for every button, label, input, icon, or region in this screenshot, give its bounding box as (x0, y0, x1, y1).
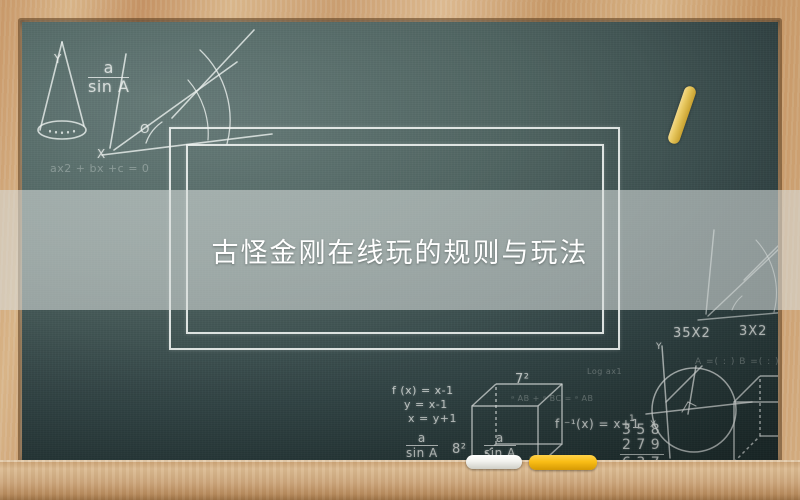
yellow-chalk-stick (529, 455, 597, 470)
chalkboard-scene: Y X O a sin A ax2 + bx +c = 0 f (x) = x-… (0, 0, 800, 500)
title-banner: 古怪金刚在线玩的规则与玩法 (0, 190, 800, 310)
page-title: 古怪金刚在线玩的规则与玩法 (212, 231, 589, 270)
ledge-wood-grain (0, 460, 800, 500)
chalk-ledge (0, 460, 800, 500)
white-chalk-stick (466, 455, 522, 469)
